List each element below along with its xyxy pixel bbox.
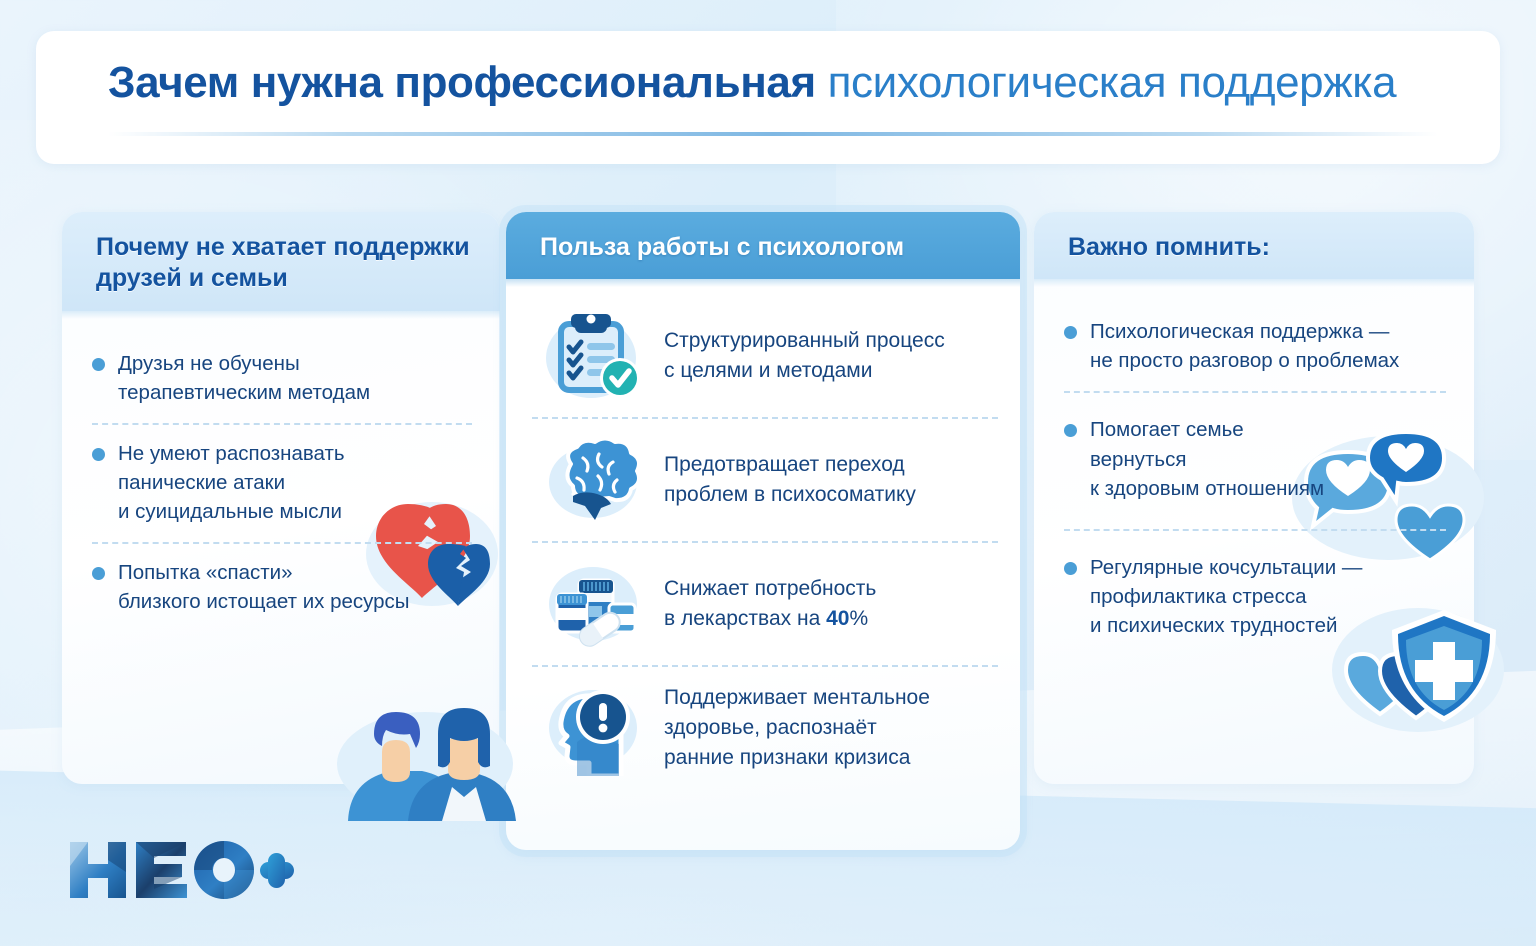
list-item-label: Регулярные кочсультации — профилактика с… [1090,553,1362,640]
column-middle-heading: Польза работы с психологом [540,232,990,263]
bullet-dot-icon [1064,326,1077,339]
column-left-list: Друзья не обучены терапевтическим метода… [62,311,500,633]
column-middle: Польза работы с психологом [506,212,1020,850]
list-item-label: Попытка «спасти» близкого истощает их ре… [118,558,410,616]
logo-letter-o [194,841,254,899]
page-title: Зачем нужна профессиональная психологиче… [108,60,1396,106]
list-item[interactable]: Психологическая поддержка — не просто ра… [1064,303,1446,391]
bullet-dot-icon [92,567,105,580]
logo-plus-icon [260,853,294,888]
brand-logo [64,836,294,908]
bullet-dot-icon [92,448,105,461]
list-item-label: Предотвращает переход проблем в психосом… [664,450,916,511]
list-item-label: Друзья не обучены терапевтическим метода… [118,349,370,407]
head-alert-icon [532,680,658,776]
medicine-pills-icon [532,556,658,652]
bullet-dot-icon [1064,424,1077,437]
clipboard-check-icon [532,308,658,404]
list-item-label: Поддерживает ментальное здоровье, распоз… [664,683,930,774]
column-left-heading: Почему не хватает поддержки друзей и сем… [96,232,470,295]
list-item-label: Не умеют распознавать панические атаки и… [118,439,345,526]
logo-letter-n [70,842,126,898]
bullet-dot-icon [92,358,105,371]
list-item-label: Структурированный процесс с целями и мет… [664,326,945,387]
header-card: Зачем нужна профессиональная психологиче… [36,31,1500,164]
list-item[interactable]: Структурированный процесс с целями и мет… [532,295,998,417]
column-right: Важно помнить: Психологическая поддержка… [1034,212,1474,784]
brain-icon [532,432,658,528]
column-right-header: Важно помнить: [1034,212,1474,279]
column-left-header: Почему не хватает поддержки друзей и сем… [62,212,500,311]
column-middle-list: Структурированный процесс с целями и мет… [506,279,1020,789]
page-title-part-light: психологическая поддержка [828,58,1397,107]
list-item[interactable]: Предотвращает переход проблем в психосом… [532,417,998,541]
list-item-label: Помогает семье вернуться к здоровым отно… [1090,415,1324,502]
list-item[interactable]: Друзья не обучены терапевтическим метода… [92,335,472,423]
list-item[interactable]: Регулярные кочсультации — профилактика с… [1064,529,1446,656]
title-underline-rule [108,132,1438,136]
logo-letter-e [136,842,187,898]
list-item-label: Психологическая поддержка — не просто ра… [1090,317,1399,375]
list-item[interactable]: Поддерживает ментальное здоровье, распоз… [532,665,998,789]
bullet-dot-icon [1064,562,1077,575]
column-middle-header: Польза работы с психологом [506,212,1020,279]
page-title-part-bold: Зачем нужна профессиональная [108,58,828,107]
list-item[interactable]: Не умеют распознавать панические атаки и… [92,423,472,542]
list-item-label: Снижает потребность в лекарствах на 40% [664,574,876,635]
column-left: Почему не хватает поддержки друзей и сем… [62,212,500,784]
column-right-list: Психологическая поддержка — не просто ра… [1034,279,1474,656]
list-item[interactable]: Снижает потребность в лекарствах на 40% [532,541,998,665]
column-right-heading: Важно помнить: [1068,232,1444,263]
list-item[interactable]: Помогает семье вернуться к здоровым отно… [1064,391,1446,528]
list-item[interactable]: Попытка «спасти» близкого истощает их ре… [92,542,472,632]
